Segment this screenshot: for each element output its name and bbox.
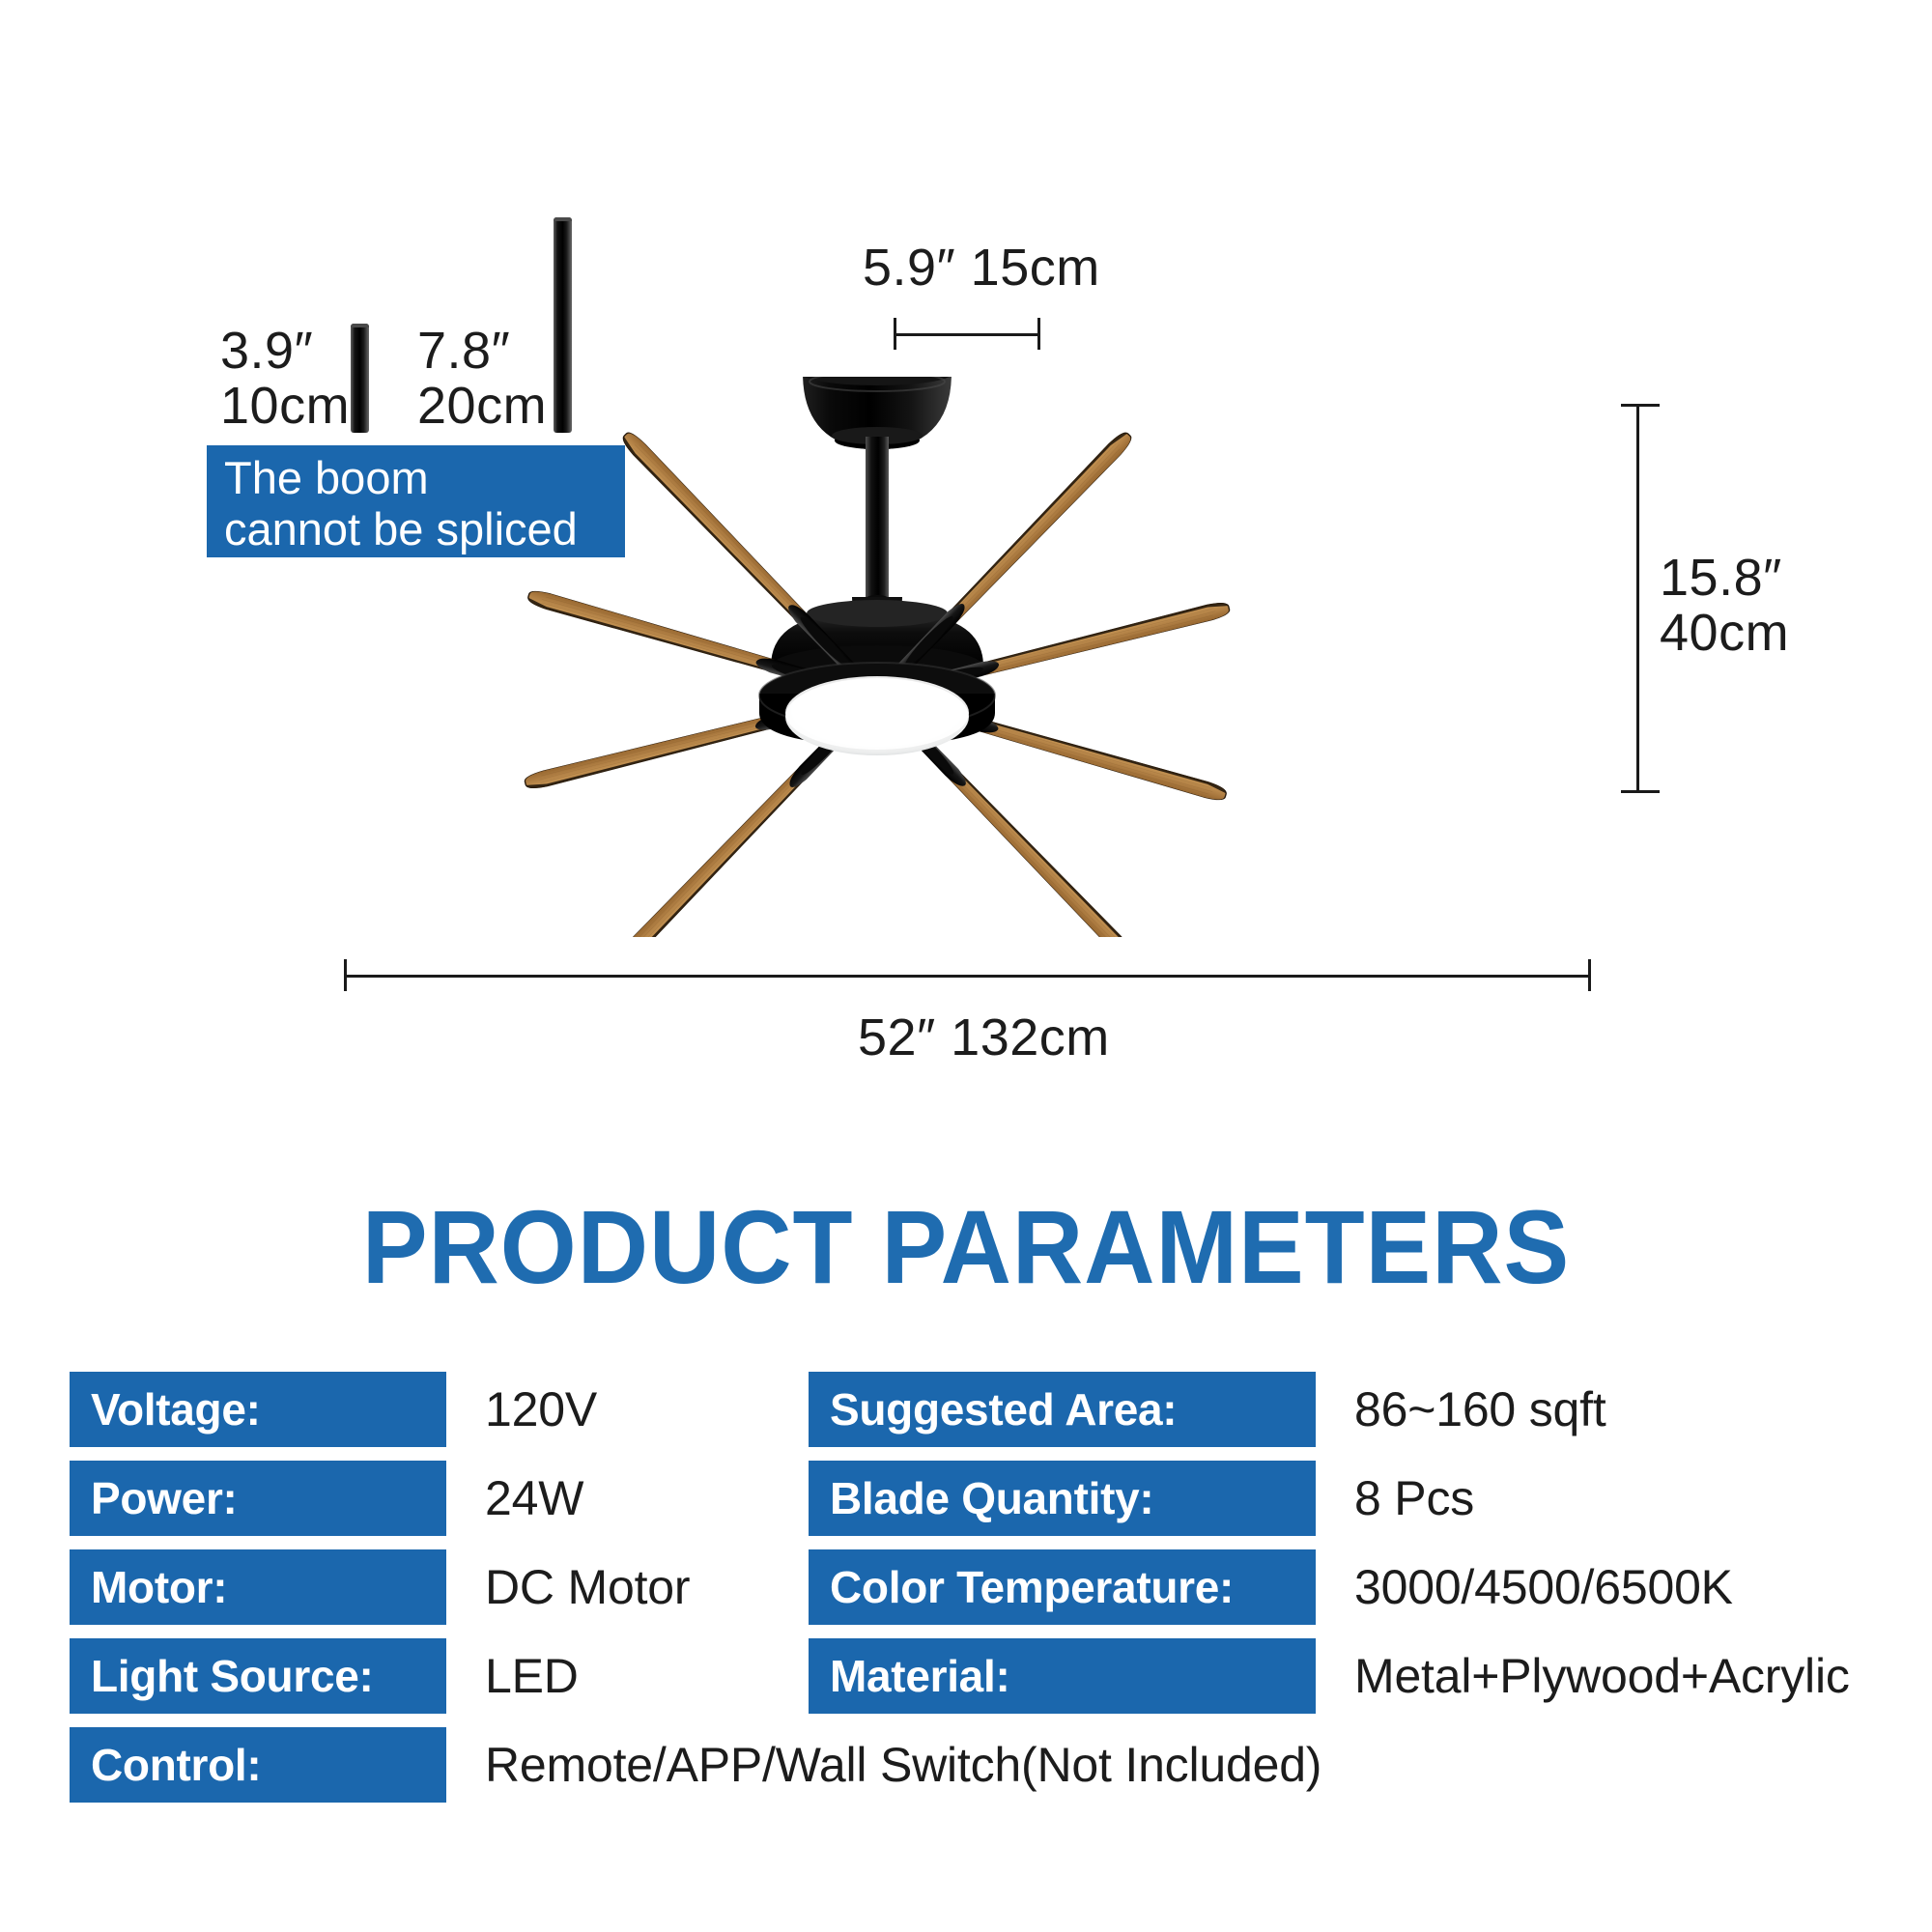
drop-height-tick-bottom (1621, 790, 1660, 793)
parameters-table: Voltage: 120V Power: 24W Motor: DC Motor… (0, 1372, 1932, 1855)
hub-and-light (759, 663, 995, 755)
param-label-control: Control: (70, 1727, 446, 1803)
param-label-color-temperature: Color Temperature: (809, 1549, 1316, 1625)
drop-height-dimension-line (1636, 404, 1639, 793)
canopy-width-value: 5.9″ 15cm (863, 239, 1100, 297)
param-value-power: 24W (485, 1461, 804, 1536)
param-label-material: Material: (809, 1638, 1316, 1714)
canopy-width-dimension-line (894, 333, 1040, 336)
long-rod-inches: 7.8″ (417, 324, 547, 379)
blade-span-dimension-line (344, 975, 1591, 978)
blade-span-label: 52″ 132cm (858, 1009, 1110, 1065)
drop-height-label: 15.8″ 40cm (1660, 551, 1789, 660)
short-rod-inches: 3.9″ (220, 324, 350, 379)
param-value-voltage: 120V (485, 1372, 804, 1447)
blade-span-tick-right (1588, 959, 1591, 991)
drop-height-inches: 15.8″ (1660, 551, 1789, 606)
param-value-suggested-area: 86~160 sqft (1354, 1372, 1895, 1447)
param-value-motor: DC Motor (485, 1549, 804, 1625)
page-title: PRODUCT PARAMETERS (58, 1186, 1874, 1307)
param-value-blade-quantity: 8 Pcs (1354, 1461, 1895, 1536)
drop-height-tick-top (1621, 404, 1660, 407)
param-label-suggested-area: Suggested Area: (809, 1372, 1316, 1447)
canopy-width-tick-left (894, 318, 896, 350)
product-spec-page: 3.9″ 10cm 7.8″ 20cm The boom cannot be s… (0, 0, 1932, 1932)
canopy-width-label: 5.9″ 15cm (863, 240, 1100, 296)
canopy-and-downrod (803, 377, 952, 622)
param-value-light-source: LED (485, 1638, 804, 1714)
ceiling-fan-svg (319, 377, 1613, 937)
dimension-diagram: 3.9″ 10cm 7.8″ 20cm The boom cannot be s… (0, 0, 1932, 1092)
canopy-width-tick-right (1037, 318, 1040, 350)
ceiling-fan-illustration (319, 377, 1613, 937)
param-label-power: Power: (70, 1461, 446, 1536)
param-label-voltage: Voltage: (70, 1372, 446, 1447)
param-label-light-source: Light Source: (70, 1638, 446, 1714)
blade-span-tick-left (344, 959, 347, 991)
blade-span-value: 52″ 132cm (858, 1009, 1110, 1066)
param-label-motor: Motor: (70, 1549, 446, 1625)
drop-height-cm: 40cm (1660, 606, 1789, 661)
param-label-blade-quantity: Blade Quantity: (809, 1461, 1316, 1536)
param-value-material: Metal+Plywood+Acrylic (1354, 1638, 1905, 1714)
param-value-control: Remote/APP/Wall Switch(Not Included) (485, 1727, 1548, 1803)
param-value-color-temperature: 3000/4500/6500K (1354, 1549, 1895, 1625)
